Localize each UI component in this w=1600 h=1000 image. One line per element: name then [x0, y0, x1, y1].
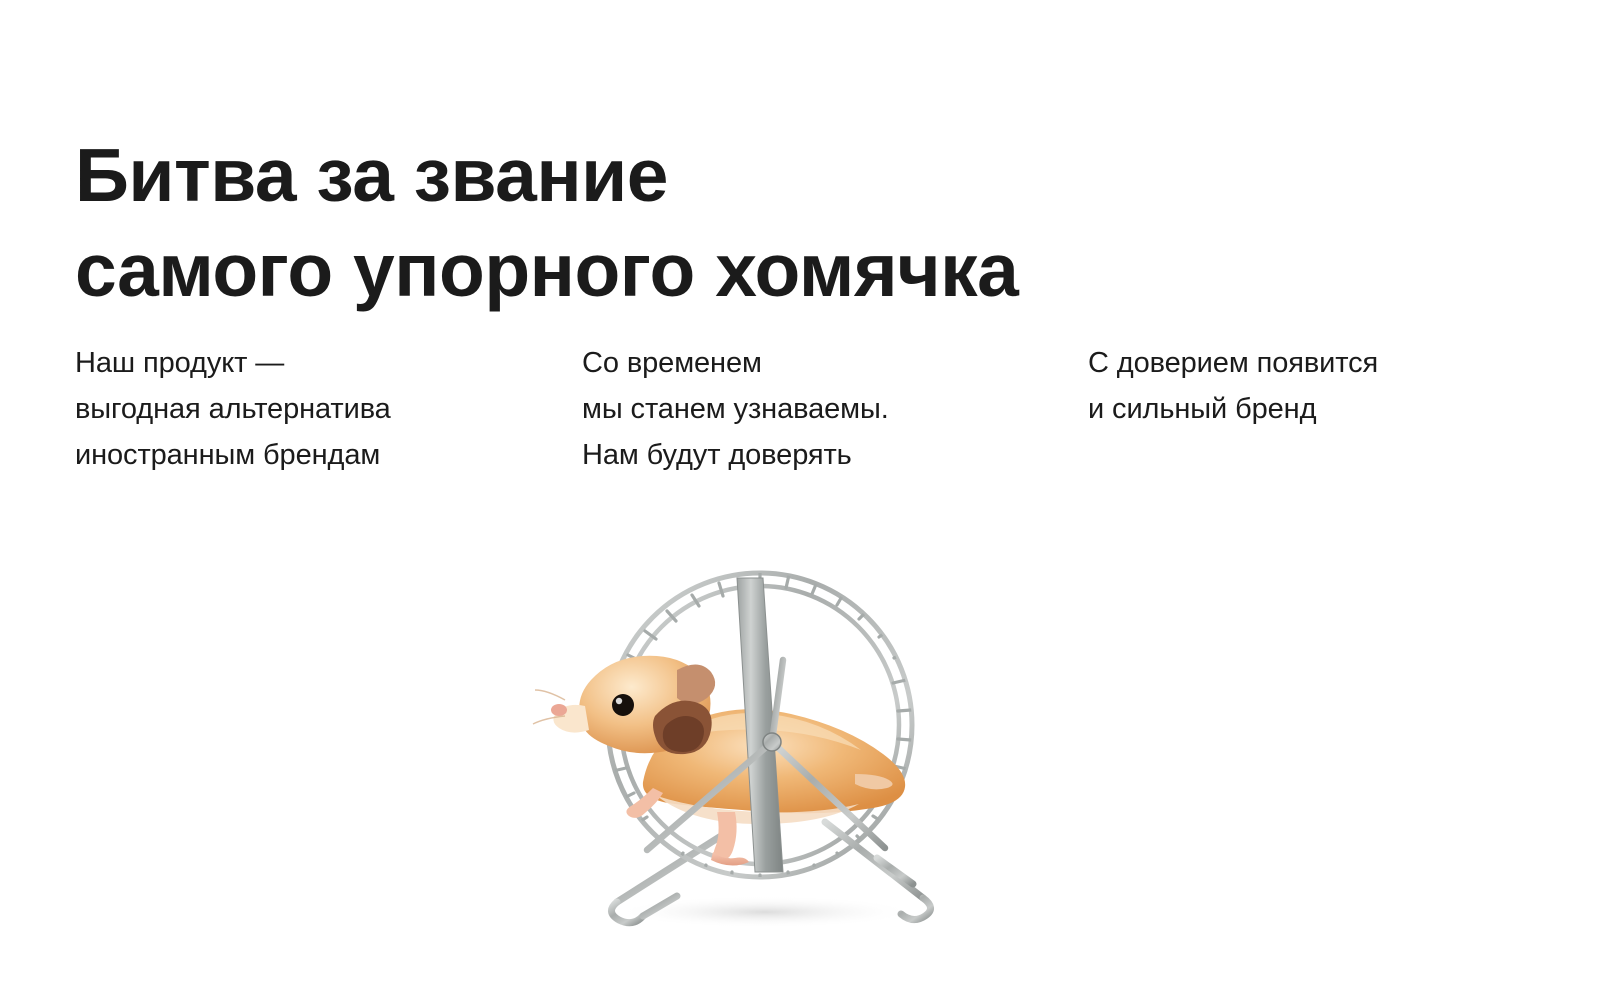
page-title: Битва за звание самого упорного хомячка: [75, 128, 1375, 318]
hamster-wheel-photo: [525, 520, 995, 950]
text-column-2: Со временем мы станем узнаваемы. Нам буд…: [582, 340, 1052, 478]
photo-shadow: [615, 896, 915, 928]
wheel-hub: [763, 733, 781, 751]
hamster-nose: [551, 704, 567, 716]
text-column-3: С доверием появится и сильный бренд: [1088, 340, 1548, 432]
text-columns: Наш продукт — выгодная альтернатива инос…: [75, 340, 1525, 490]
hamster-eye: [612, 694, 634, 716]
slide-canvas: Битва за звание самого упорного хомячка …: [0, 0, 1600, 1000]
hamster-eye-glint: [616, 698, 622, 704]
text-column-1: Наш продукт — выгодная альтернатива инос…: [75, 340, 545, 478]
